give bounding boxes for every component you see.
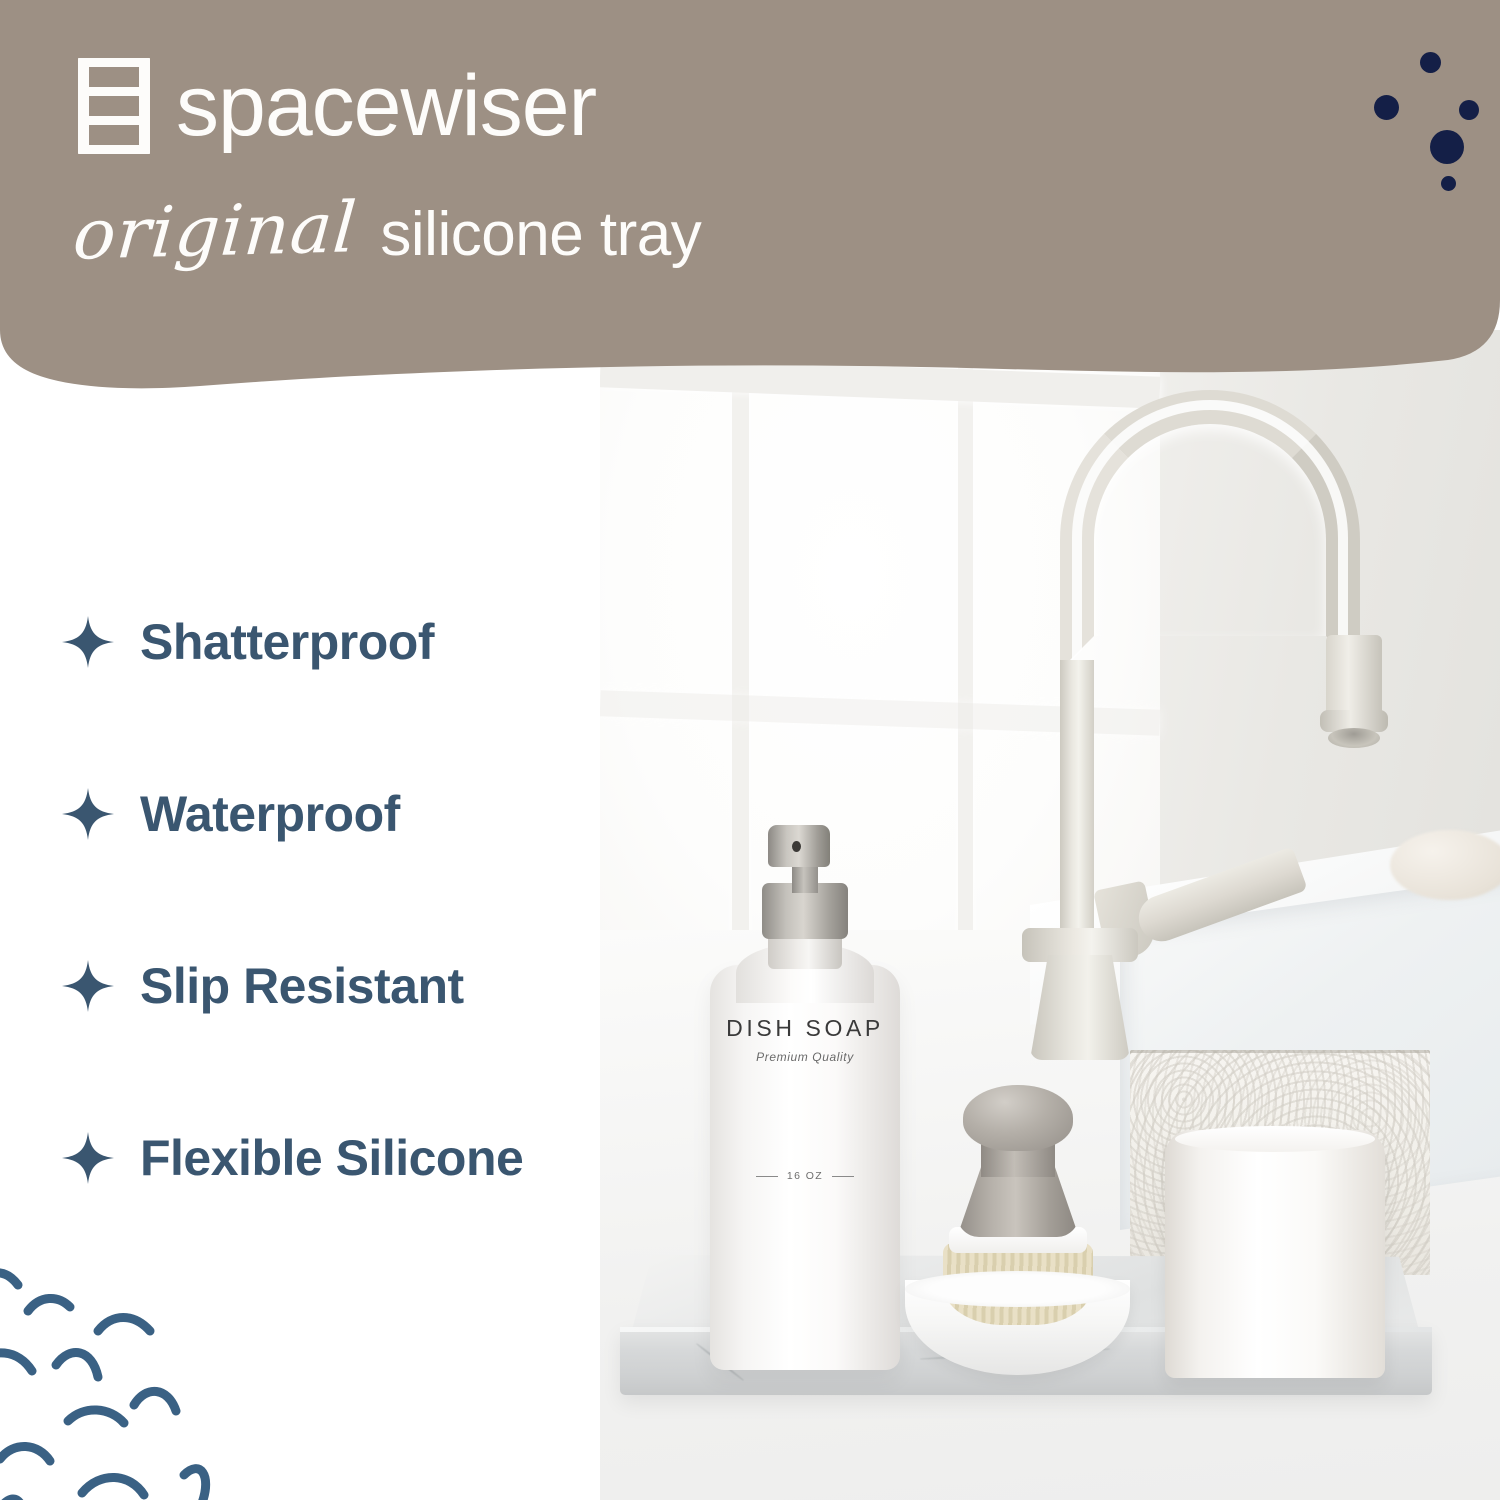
feature-label: Shatterproof (140, 617, 434, 667)
brush-stroke-decoration (0, 1225, 260, 1500)
decor-dot (1430, 130, 1464, 164)
feature-item: Flexible Silicone (62, 1072, 662, 1244)
sparkle-star-icon (62, 960, 114, 1012)
tagline-product: silicone tray (380, 204, 701, 266)
faucet-aerator (1328, 728, 1380, 748)
feature-item: Slip Resistant (62, 900, 662, 1072)
product-infographic: spacewiser DISH SOAP Premium Quality 16 … (0, 0, 1500, 1500)
soap-dispenser-bottle: DISH SOAP Premium Quality 16 OZ (710, 825, 900, 1370)
sparkle-star-icon (62, 616, 114, 668)
feature-item: Waterproof (62, 728, 662, 900)
kitchen-faucet (1000, 380, 1420, 1060)
brand-lockup: spacewiser (78, 58, 596, 154)
pump-nozzle-hole (792, 841, 801, 852)
tagline: original silicone tray (74, 196, 701, 266)
tagline-script-word: original (71, 192, 360, 269)
sparkle-star-icon (62, 1132, 114, 1184)
faucet-handle (1132, 846, 1307, 947)
window-mullion-vertical (958, 330, 973, 1030)
brush-handle-knob (963, 1085, 1073, 1151)
brush-dish-rim (905, 1271, 1130, 1307)
product-photo: spacewiser DISH SOAP Premium Quality 16 … (600, 330, 1500, 1500)
feature-list: Shatterproof Waterproof Slip Resistant F… (62, 556, 662, 1244)
ceramic-cup (1165, 1130, 1385, 1378)
bottle-label-subtitle: Premium Quality (710, 1050, 900, 1064)
sparkle-star-icon (62, 788, 114, 840)
decor-dot (1374, 95, 1399, 120)
dish-brush (905, 1085, 1130, 1380)
decor-dot (1459, 100, 1479, 120)
bottle-label-title: DISH SOAP (710, 1015, 900, 1042)
bottle-volume: 16 OZ (710, 1170, 900, 1182)
feature-label: Slip Resistant (140, 961, 464, 1011)
faucet-base (1030, 955, 1130, 1060)
feature-item: Shatterproof (62, 556, 662, 728)
decor-dot (1441, 176, 1456, 191)
feature-label: Waterproof (140, 789, 400, 839)
ladder-shelf-icon (78, 58, 150, 154)
decorative-dots (1374, 52, 1500, 202)
brand-name: spacewiser (176, 63, 596, 149)
feature-label: Flexible Silicone (140, 1133, 523, 1183)
faucet-highlight (1072, 400, 1348, 660)
decor-dot (1420, 52, 1441, 73)
